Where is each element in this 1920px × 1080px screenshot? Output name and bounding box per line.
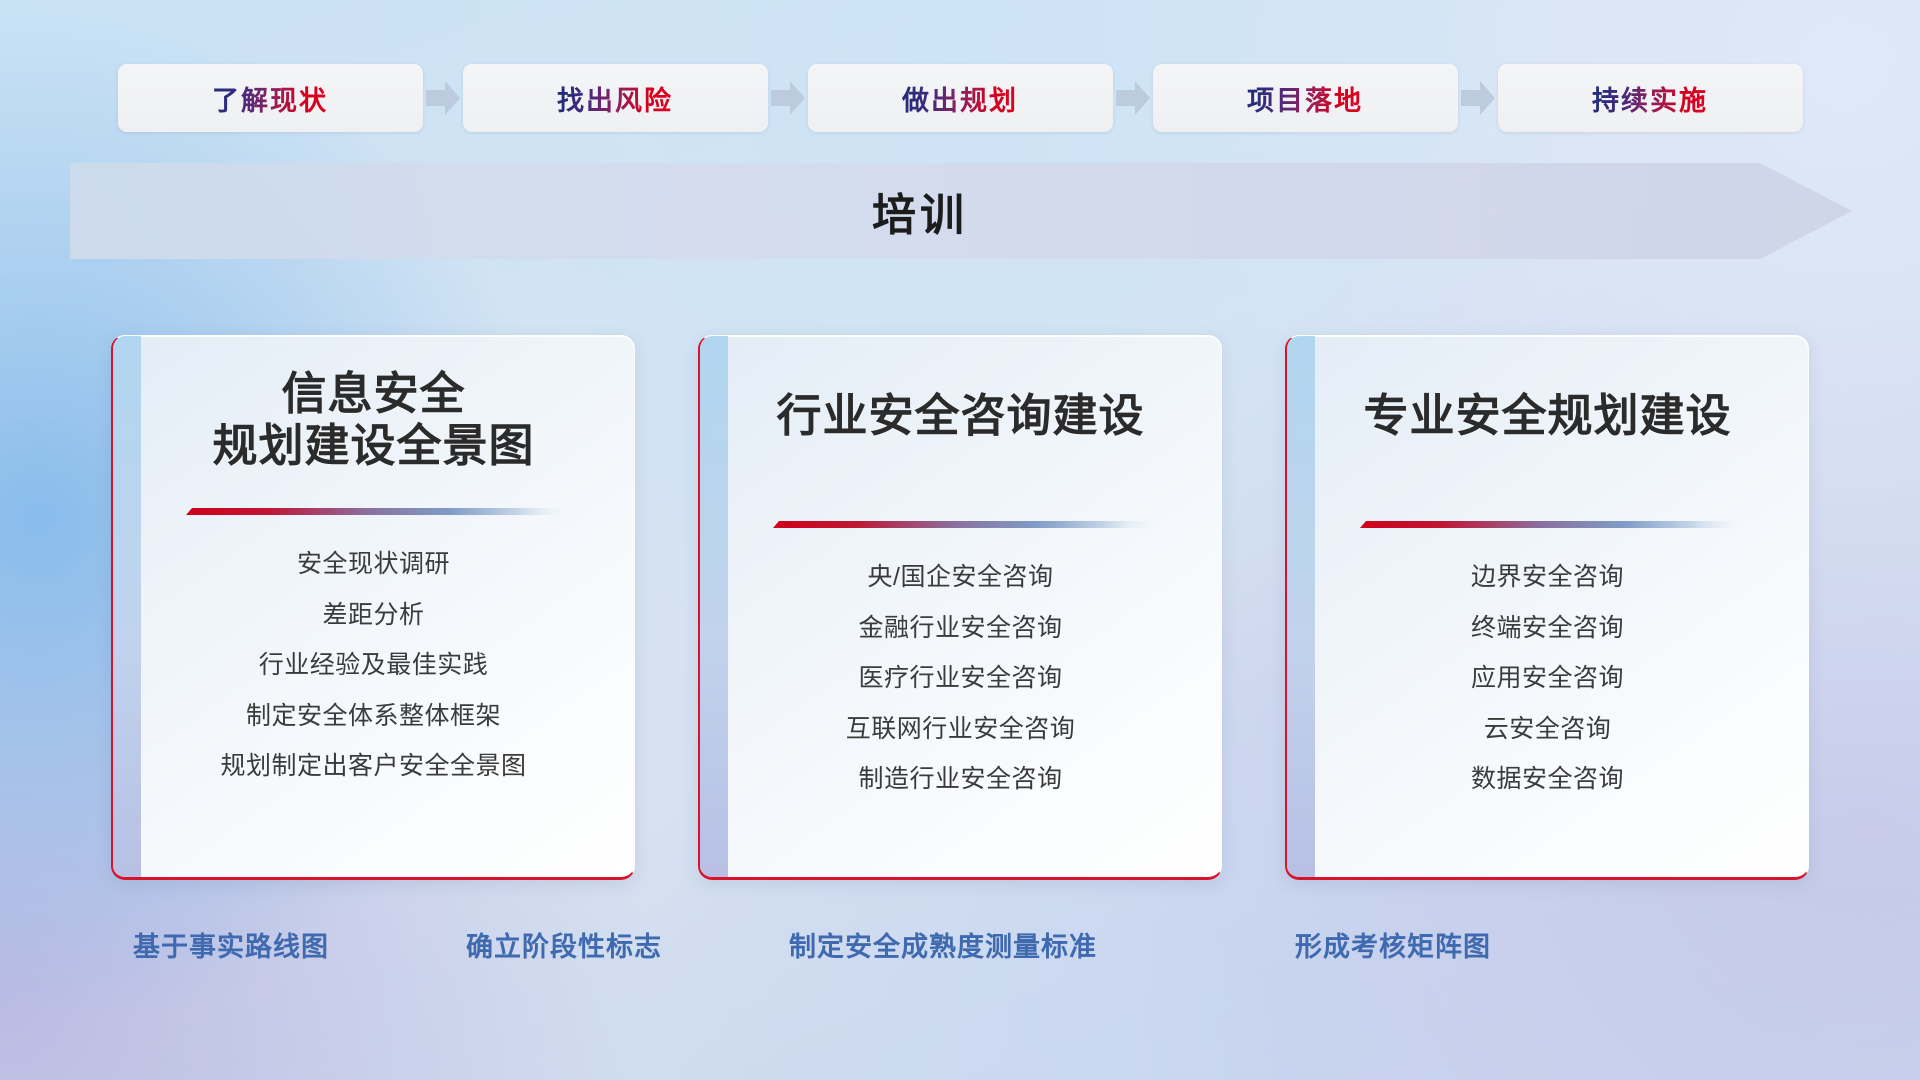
footnote-roadmap: 基于事实路线图: [133, 925, 329, 964]
step-label: 持续实施: [1592, 79, 1708, 118]
card-title-line: 信息安全: [212, 368, 534, 420]
arrow-right-icon: [1458, 68, 1498, 128]
card-item-list: 安全现状调研 差距分析 行业经验及最佳实践 制定安全体系整体框架 规划制定出客户…: [220, 544, 526, 787]
card-information-security-blueprint[interactable]: 信息安全 规划建设全景图: [111, 335, 635, 880]
card-title: 信息安全 规划建设全景图: [212, 368, 534, 472]
list-item: 医疗行业安全咨询: [858, 658, 1062, 699]
card-divider: [773, 519, 1149, 533]
step-label: 项目落地: [1247, 79, 1363, 118]
step-item-3[interactable]: 做出规划: [808, 64, 1113, 132]
card-title: 专业安全规划建设: [1363, 390, 1731, 442]
footnote-maturity-scale: 制定安全成熟度测量标准: [789, 925, 1097, 964]
list-item: 安全现状调研: [297, 544, 450, 585]
training-banner: 培训: [70, 163, 1852, 259]
slide-canvas: 了解现状 找出风险 做出规划 项目落地: [0, 0, 1920, 1080]
card-title-line: 规划建设全景图: [212, 420, 534, 472]
card-title-line: 专业安全规划建设: [1363, 390, 1731, 442]
card-industry-security-consulting[interactable]: 行业安全咨询建设: [698, 335, 1222, 880]
card-item-list: 边界安全咨询 终端安全咨询 应用安全咨询 云安全咨询 数据安全咨询: [1471, 557, 1624, 800]
list-item: 规划制定出客户安全全景图: [220, 746, 526, 787]
card-title-line: 行业安全咨询建设: [776, 390, 1144, 442]
footnote-row: 基于事实路线图 确立阶段性标志 制定安全成熟度测量标准 形成考核矩阵图: [0, 925, 1920, 985]
card-title: 行业安全咨询建设: [776, 390, 1144, 442]
footnote-milestones: 确立阶段性标志: [466, 925, 662, 964]
step-label: 做出规划: [902, 79, 1018, 118]
step-label: 了解现状: [212, 79, 328, 118]
card-professional-security-planning[interactable]: 专业安全规划建设: [1285, 335, 1809, 880]
list-item: 终端安全咨询: [1471, 608, 1624, 649]
list-item: 应用安全咨询: [1471, 658, 1624, 699]
card-row: 信息安全 规划建设全景图: [0, 335, 1920, 880]
list-item: 互联网行业安全咨询: [846, 709, 1076, 750]
list-item: 云安全咨询: [1484, 709, 1612, 750]
list-item: 金融行业安全咨询: [858, 608, 1062, 649]
card-divider: [186, 506, 562, 520]
footnote-matrix: 形成考核矩阵图: [1295, 925, 1491, 964]
arrow-right-icon: [768, 68, 808, 128]
arrow-right-icon: [423, 68, 463, 128]
step-label: 找出风险: [557, 79, 673, 118]
list-item: 制造行业安全咨询: [858, 759, 1062, 800]
banner-title: 培训: [70, 163, 1770, 259]
step-item-2[interactable]: 找出风险: [463, 64, 768, 132]
arrow-right-icon: [1113, 68, 1153, 128]
step-item-4[interactable]: 项目落地: [1153, 64, 1458, 132]
card-item-list: 央/国企安全咨询 金融行业安全咨询 医疗行业安全咨询 互联网行业安全咨询 制造行…: [846, 557, 1076, 800]
process-step-row: 了解现状 找出风险 做出规划 项目落地: [0, 58, 1920, 138]
list-item: 央/国企安全咨询: [868, 557, 1054, 598]
list-item: 数据安全咨询: [1471, 759, 1624, 800]
step-item-1[interactable]: 了解现状: [118, 64, 423, 132]
list-item: 边界安全咨询: [1471, 557, 1624, 598]
step-item-5[interactable]: 持续实施: [1498, 64, 1803, 132]
list-item: 差距分析: [322, 595, 424, 636]
list-item: 制定安全体系整体框架: [246, 696, 501, 737]
card-divider: [1360, 519, 1736, 533]
list-item: 行业经验及最佳实践: [259, 645, 489, 686]
